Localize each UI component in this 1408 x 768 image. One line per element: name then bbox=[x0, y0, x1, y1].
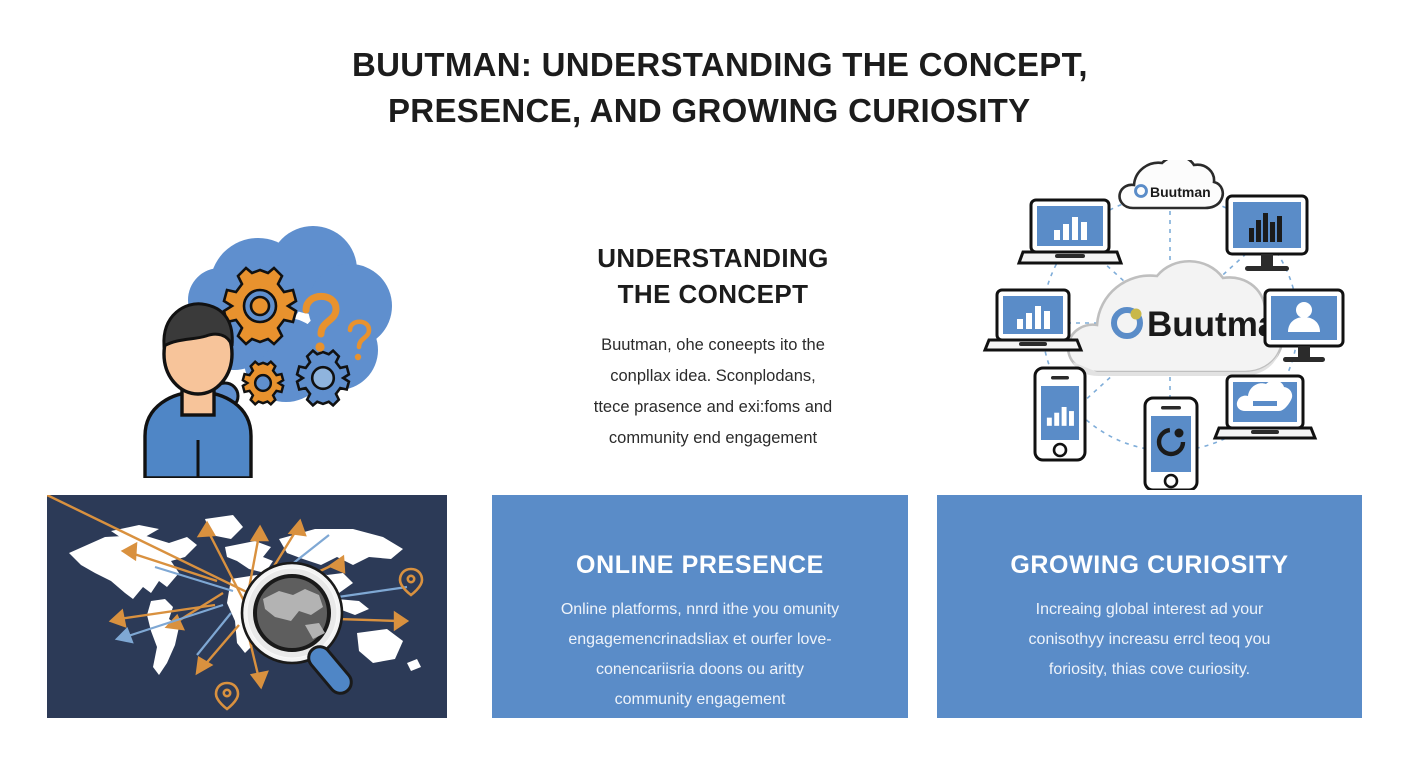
section-body-line-4: community end engagement bbox=[528, 423, 898, 454]
node-laptop-bottom-right bbox=[1215, 376, 1315, 438]
section-body-line-3: ttece prasence and exi:foms and bbox=[528, 392, 898, 423]
node-laptop-left bbox=[985, 290, 1081, 350]
panel-global-reach bbox=[47, 495, 447, 718]
node-laptop-top-left bbox=[1019, 200, 1121, 263]
panel-body-line-4: community engagement bbox=[518, 685, 882, 715]
section-heading: UNDERSTANDING THE CONCEPT bbox=[528, 240, 898, 312]
panel-body-line-1: Online platforms, nnrd ithe you omunity bbox=[518, 595, 882, 625]
section-heading-line-1: UNDERSTANDING bbox=[528, 240, 898, 276]
panel-body-line-1: Increaing global interest ad your bbox=[963, 595, 1336, 625]
title-line-2: PRESENCE, AND GROWING CURIOSITY bbox=[352, 88, 1112, 134]
node-phone-bottom-left bbox=[1035, 368, 1085, 460]
panel-heading-growing-curiosity: GROWING CURIOSITY bbox=[963, 549, 1336, 581]
panel-online-presence: ONLINE PRESENCE Online platforms, nnrd i… bbox=[492, 495, 908, 718]
page-title: BUUTMAN: UNDERSTANDING THE CONCEPT, PRES… bbox=[352, 42, 1112, 134]
cloud-network-icon: Buutman Buutman bbox=[975, 160, 1365, 490]
understanding-the-concept-block: UNDERSTANDING THE CONCEPT Buutman, ohe c… bbox=[528, 240, 898, 454]
node-phone-bottom bbox=[1145, 398, 1197, 490]
section-body-line-1: Buutman, ohe coneepts ito the bbox=[528, 330, 898, 361]
section-body: Buutman, ohe coneepts ito the conpllax i… bbox=[528, 330, 898, 454]
panel-body-growing-curiosity: Increaing global interest ad your coniso… bbox=[963, 595, 1336, 685]
section-heading-line-2: THE CONCEPT bbox=[528, 276, 898, 312]
cloud-network-illustration: Buutman Buutman bbox=[975, 160, 1365, 490]
person-thought-bubble-illustration bbox=[110, 178, 400, 478]
top-row: UNDERSTANDING THE CONCEPT Buutman, ohe c… bbox=[0, 150, 1408, 490]
bottom-panels-row: ONLINE PRESENCE Online platforms, nnrd i… bbox=[0, 495, 1408, 718]
panel-body-line-3: conencariisria doons ou aritty bbox=[518, 655, 882, 685]
panel-heading-online-presence: ONLINE PRESENCE bbox=[518, 549, 882, 581]
small-cloud: Buutman bbox=[1120, 160, 1223, 208]
title-line-1: BUUTMAN: UNDERSTANDING THE CONCEPT, bbox=[352, 42, 1112, 88]
world-map-magnifier-icon bbox=[47, 495, 447, 718]
panel-body-line-2: conisothyy increasu errcl teoq you bbox=[963, 625, 1336, 655]
section-body-line-2: conpllax idea. Sconplodans, bbox=[528, 361, 898, 392]
panel-body-online-presence: Online platforms, nnrd ithe you omunity … bbox=[518, 595, 882, 715]
panel-growing-curiosity: GROWING CURIOSITY Increaing global inter… bbox=[937, 495, 1362, 718]
panel-body-line-2: engagemencrinadsliax et ourfer love- bbox=[518, 625, 882, 655]
infographic-page: BUUTMAN: UNDERSTANDING THE CONCEPT, PRES… bbox=[0, 0, 1408, 768]
thinking-person-icon bbox=[110, 178, 400, 478]
small-cloud-label: Buutman bbox=[1150, 184, 1211, 200]
panel-body-line-3: foriosity, thias cove curiosity. bbox=[963, 655, 1336, 685]
